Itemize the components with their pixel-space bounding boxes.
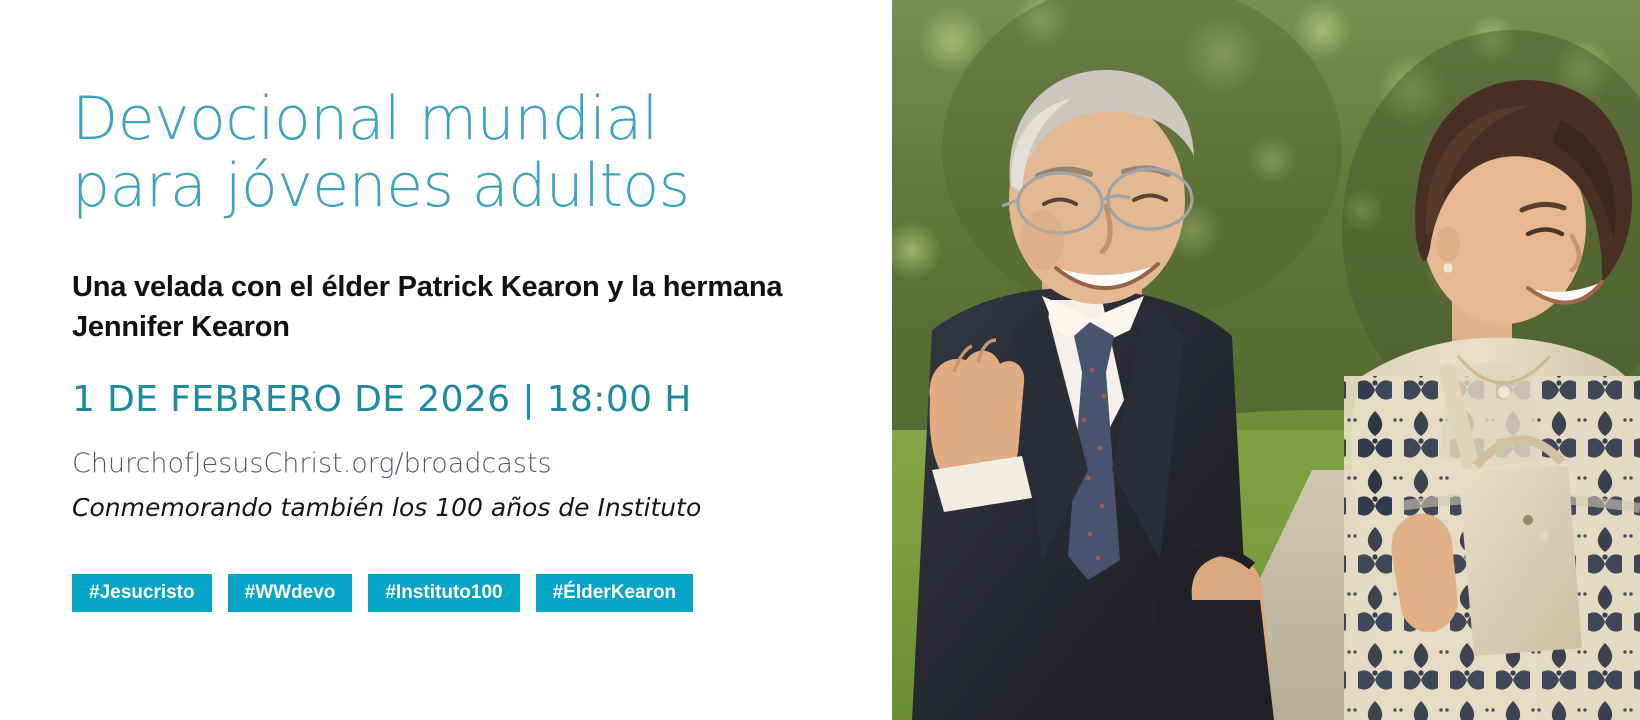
hashtag-chip-jesucristo[interactable]: #Jesucristo (72, 574, 212, 612)
event-datetime: 1 DE FEBRERO DE 2026 | 18:00 H (72, 380, 832, 420)
hashtag-chip-wwdevo[interactable]: #WWdevo (228, 574, 353, 612)
page-title: Devocional mundial para jóvenes adultos (72, 86, 832, 220)
subtitle-speakers: Una velada con el élder Patrick Kearon y… (72, 267, 832, 347)
hashtag-chip-instituto100[interactable]: #Instituto100 (368, 574, 519, 612)
hashtag-chip-elderkearon[interactable]: #ÉlderKearon (536, 574, 694, 612)
broadcast-poster: Devocional mundial para jóvenes adultos … (0, 0, 1640, 720)
anniversary-tagline: Conmemorando también los 100 años de Ins… (72, 492, 852, 523)
couple-photo (892, 0, 1640, 720)
text-panel: Devocional mundial para jóvenes adultos … (0, 0, 892, 720)
couple-photo-illustration (892, 0, 1640, 720)
hashtag-list: #Jesucristo #WWdevo #Instituto100 #Élder… (72, 574, 693, 612)
broadcast-url[interactable]: ChurchofJesusChrist.org/broadcasts (72, 448, 832, 480)
